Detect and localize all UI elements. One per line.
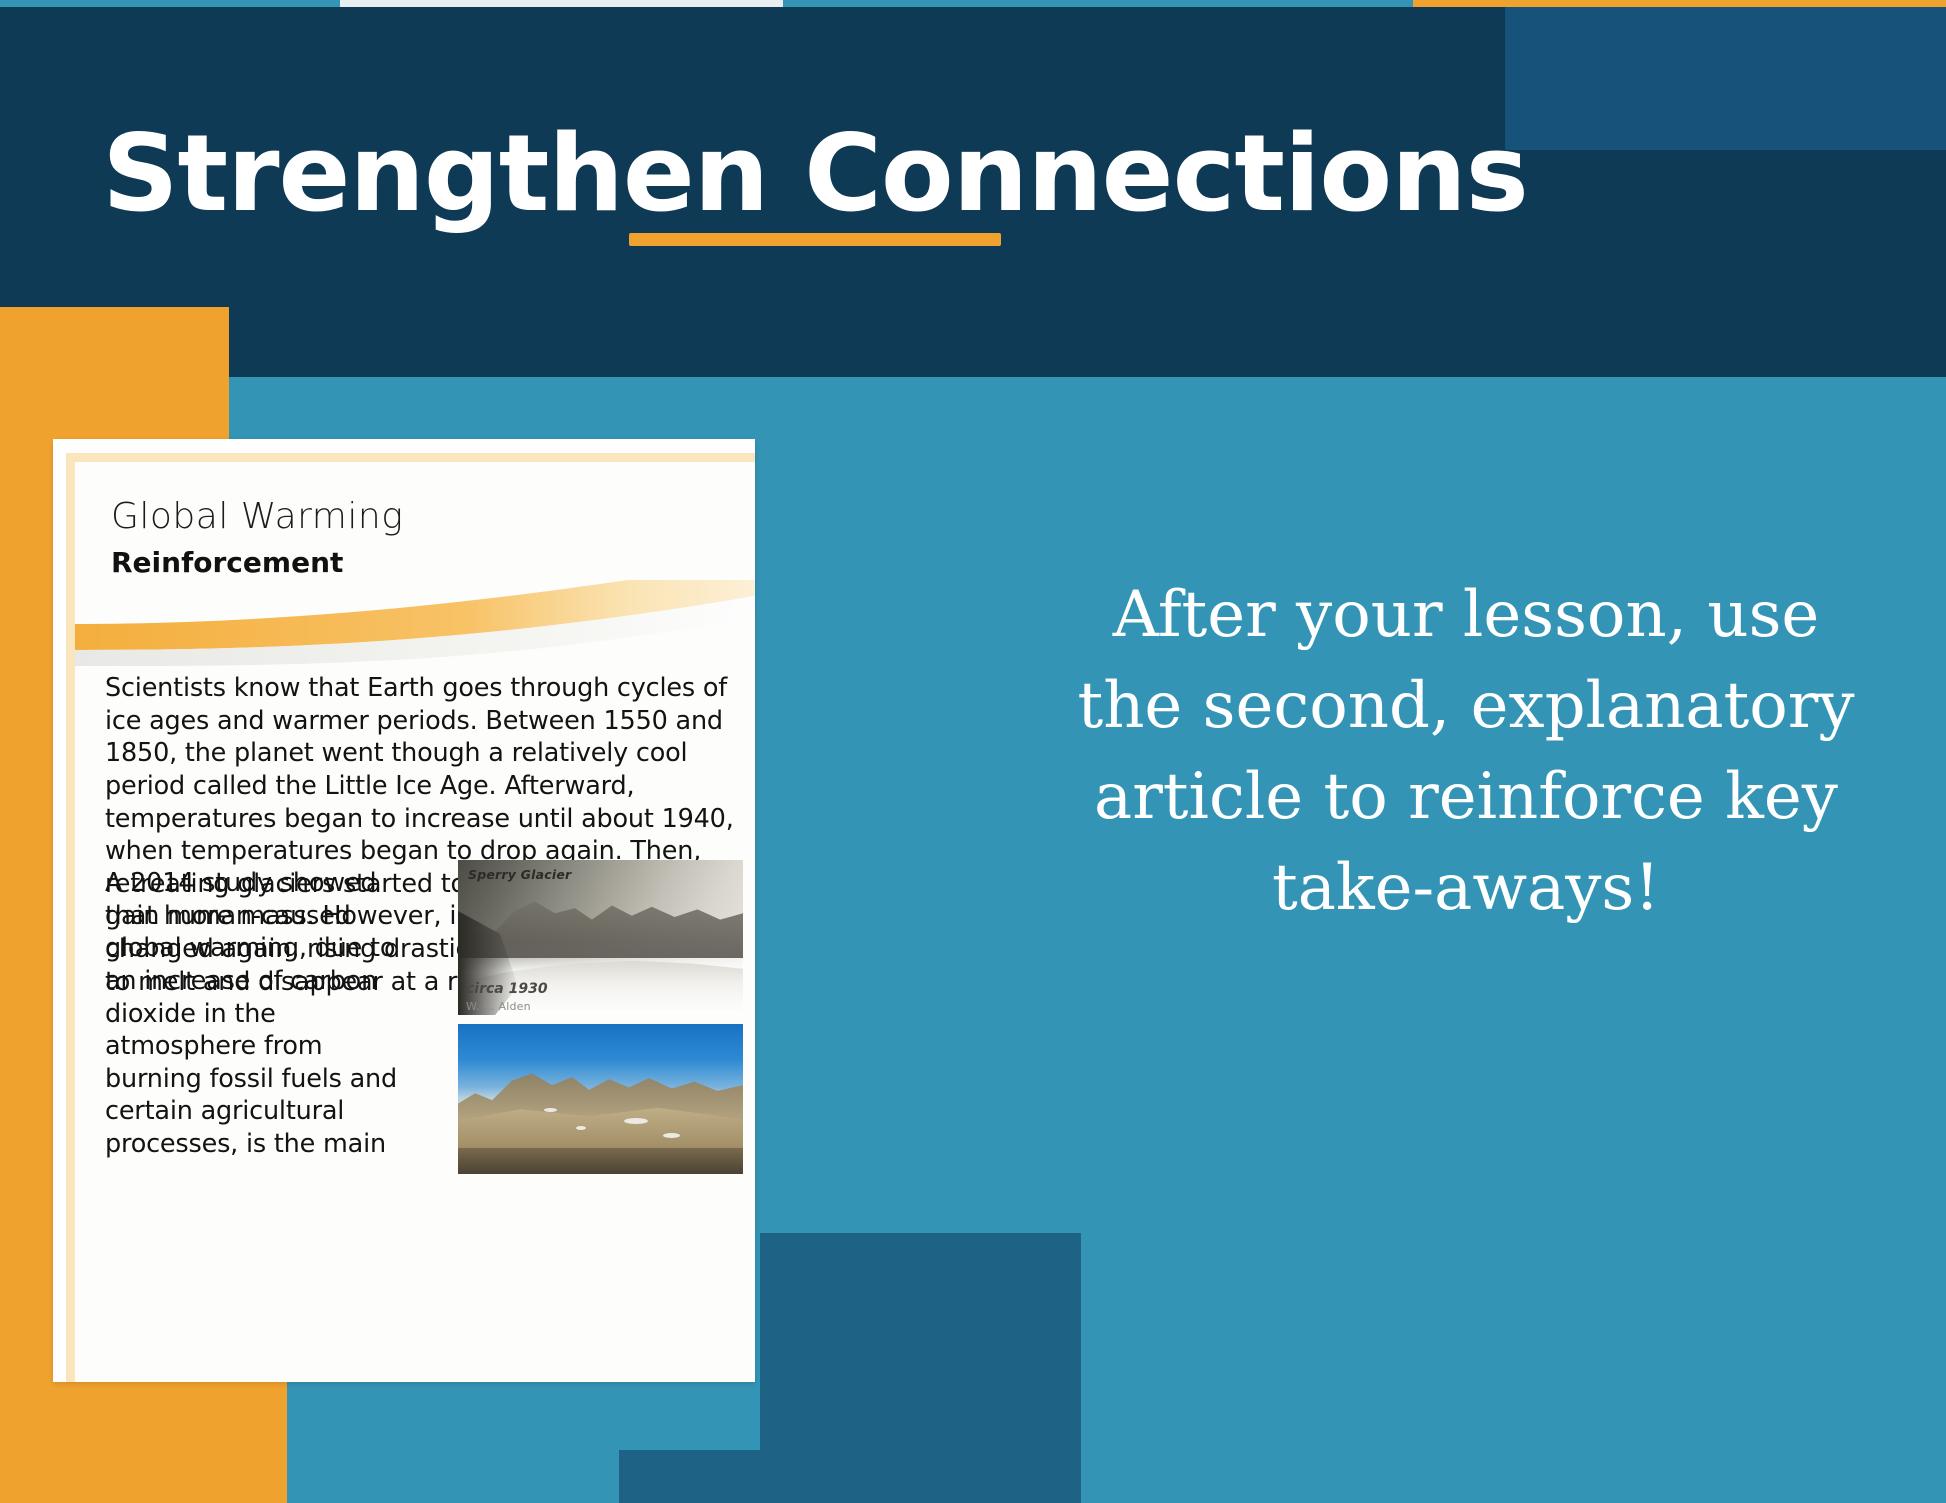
figure-photo-credit: W. C. Alden [466, 1000, 531, 1013]
sperry-glacier-modern-image [458, 1024, 743, 1174]
worksheet-figure-group: Sperry Glacier circa 1930 W. C. Alden [458, 860, 743, 1183]
figure-label-top: Sperry Glacier [468, 867, 571, 882]
title-underline-rule [629, 233, 1001, 246]
snow-patch-shape [576, 1126, 586, 1130]
top-rule-orange [1413, 0, 1946, 7]
worksheet-swoosh-graphic [75, 580, 755, 670]
figure-caption-year: circa 1930 [466, 981, 548, 997]
worksheet-title: Global Warming [111, 496, 403, 537]
decor-block-dark-teal-wide [619, 1450, 1081, 1503]
top-rule-white [340, 0, 783, 7]
slide-canvas: Strengthen Connections Global Warming Re… [0, 0, 1946, 1503]
snow-patch-shape [544, 1108, 557, 1112]
right-side-caption: After your lesson, use the second, expla… [1066, 570, 1866, 934]
worksheet-subtitle: Reinforcement [111, 546, 343, 579]
snow-patch-shape [663, 1133, 680, 1138]
worksheet-inner-frame: Global Warming Reinforcement [66, 453, 755, 1382]
worksheet-card[interactable]: Global Warming Reinforcement [53, 439, 755, 1382]
snow-patch-shape [624, 1118, 648, 1124]
top-rule-teal [783, 0, 1413, 7]
page-title: Strengthen Connections [0, 118, 1630, 229]
scree-field-shape [458, 1148, 743, 1174]
worksheet-paragraph-2: A 2014 study showed that human-caused gl… [105, 867, 405, 1161]
sperry-glacier-historic-image: Sperry Glacier circa 1930 W. C. Alden [458, 860, 743, 1015]
worksheet-page: Global Warming Reinforcement [75, 462, 755, 1382]
